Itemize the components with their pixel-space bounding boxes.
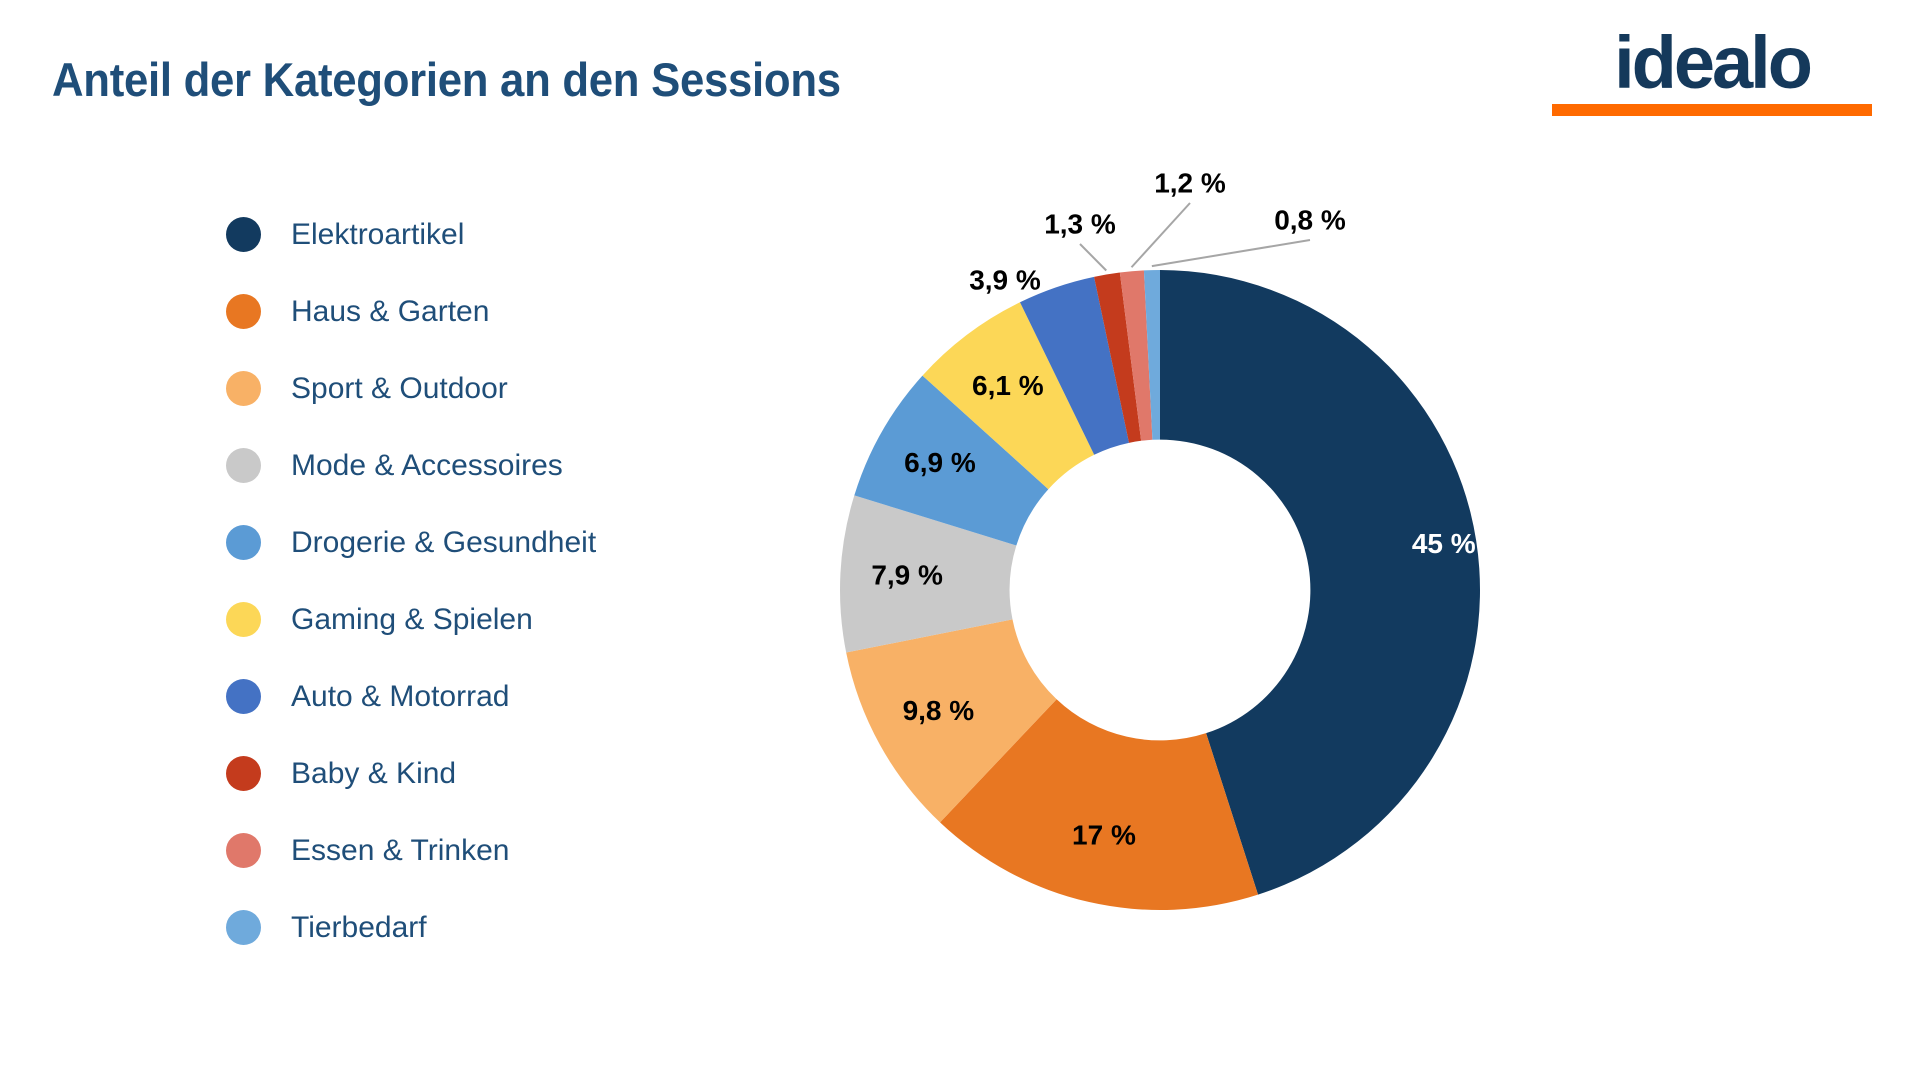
legend-item-label: Essen & Trinken xyxy=(291,834,509,868)
slice-data-label: 1,3 % xyxy=(1044,208,1116,239)
legend-item-label: Mode & Accessoires xyxy=(291,449,563,483)
idealo-logo: idealo xyxy=(1552,28,1872,116)
legend-item-label: Sport & Outdoor xyxy=(291,372,508,406)
legend-item[interactable]: Haus & Garten xyxy=(226,273,696,350)
leader-line xyxy=(1080,244,1106,270)
legend-item-label: Baby & Kind xyxy=(291,757,456,791)
legend-color-dot xyxy=(226,602,261,637)
slice-data-label: 17 % xyxy=(1072,819,1136,850)
legend-item-label: Gaming & Spielen xyxy=(291,603,533,637)
legend-color-dot xyxy=(226,910,261,945)
logo-wordmark: idealo xyxy=(1552,28,1872,98)
slice-data-label: 0,8 % xyxy=(1274,204,1346,235)
slice-data-label: 9,8 % xyxy=(903,695,975,726)
legend-color-dot xyxy=(226,833,261,868)
slide-canvas: Anteil der Kategorien an den Sessions id… xyxy=(0,0,1920,1079)
legend-item-label: Tierbedarf xyxy=(291,911,427,945)
slice-data-label: 3,9 % xyxy=(969,264,1041,295)
legend-color-dot xyxy=(226,294,261,329)
leader-line xyxy=(1132,203,1190,267)
chart-legend: ElektroartikelHaus & GartenSport & Outdo… xyxy=(226,196,696,966)
legend-color-dot xyxy=(226,525,261,560)
logo-underline-bar xyxy=(1552,104,1872,116)
legend-item[interactable]: Essen & Trinken xyxy=(226,812,696,889)
legend-item[interactable]: Drogerie & Gesundheit xyxy=(226,504,696,581)
slice-data-label: 7,9 % xyxy=(871,559,943,590)
legend-color-dot xyxy=(226,217,261,252)
slice-data-label: 6,9 % xyxy=(904,447,976,478)
legend-item[interactable]: Gaming & Spielen xyxy=(226,581,696,658)
legend-item-label: Elektroartikel xyxy=(291,218,464,252)
donut-chart: 45 %17 %9,8 %7,9 %6,9 %6,1 %3,9 %1,3 %1,… xyxy=(800,150,1540,950)
slice-data-label: 6,1 % xyxy=(972,370,1044,401)
legend-item[interactable]: Sport & Outdoor xyxy=(226,350,696,427)
legend-item-label: Drogerie & Gesundheit xyxy=(291,526,596,560)
slice-data-label: 1,2 % xyxy=(1154,167,1226,198)
legend-item[interactable]: Tierbedarf xyxy=(226,889,696,966)
legend-color-dot xyxy=(226,448,261,483)
legend-item[interactable]: Elektroartikel xyxy=(226,196,696,273)
legend-item-label: Auto & Motorrad xyxy=(291,680,509,714)
legend-color-dot xyxy=(226,679,261,714)
legend-item[interactable]: Auto & Motorrad xyxy=(226,658,696,735)
slice-data-label: 45 % xyxy=(1412,528,1476,559)
legend-item-label: Haus & Garten xyxy=(291,295,489,329)
legend-item[interactable]: Baby & Kind xyxy=(226,735,696,812)
page-title: Anteil der Kategorien an den Sessions xyxy=(52,52,841,107)
legend-item[interactable]: Mode & Accessoires xyxy=(226,427,696,504)
leader-line xyxy=(1152,240,1310,266)
legend-color-dot xyxy=(226,371,261,406)
legend-color-dot xyxy=(226,756,261,791)
